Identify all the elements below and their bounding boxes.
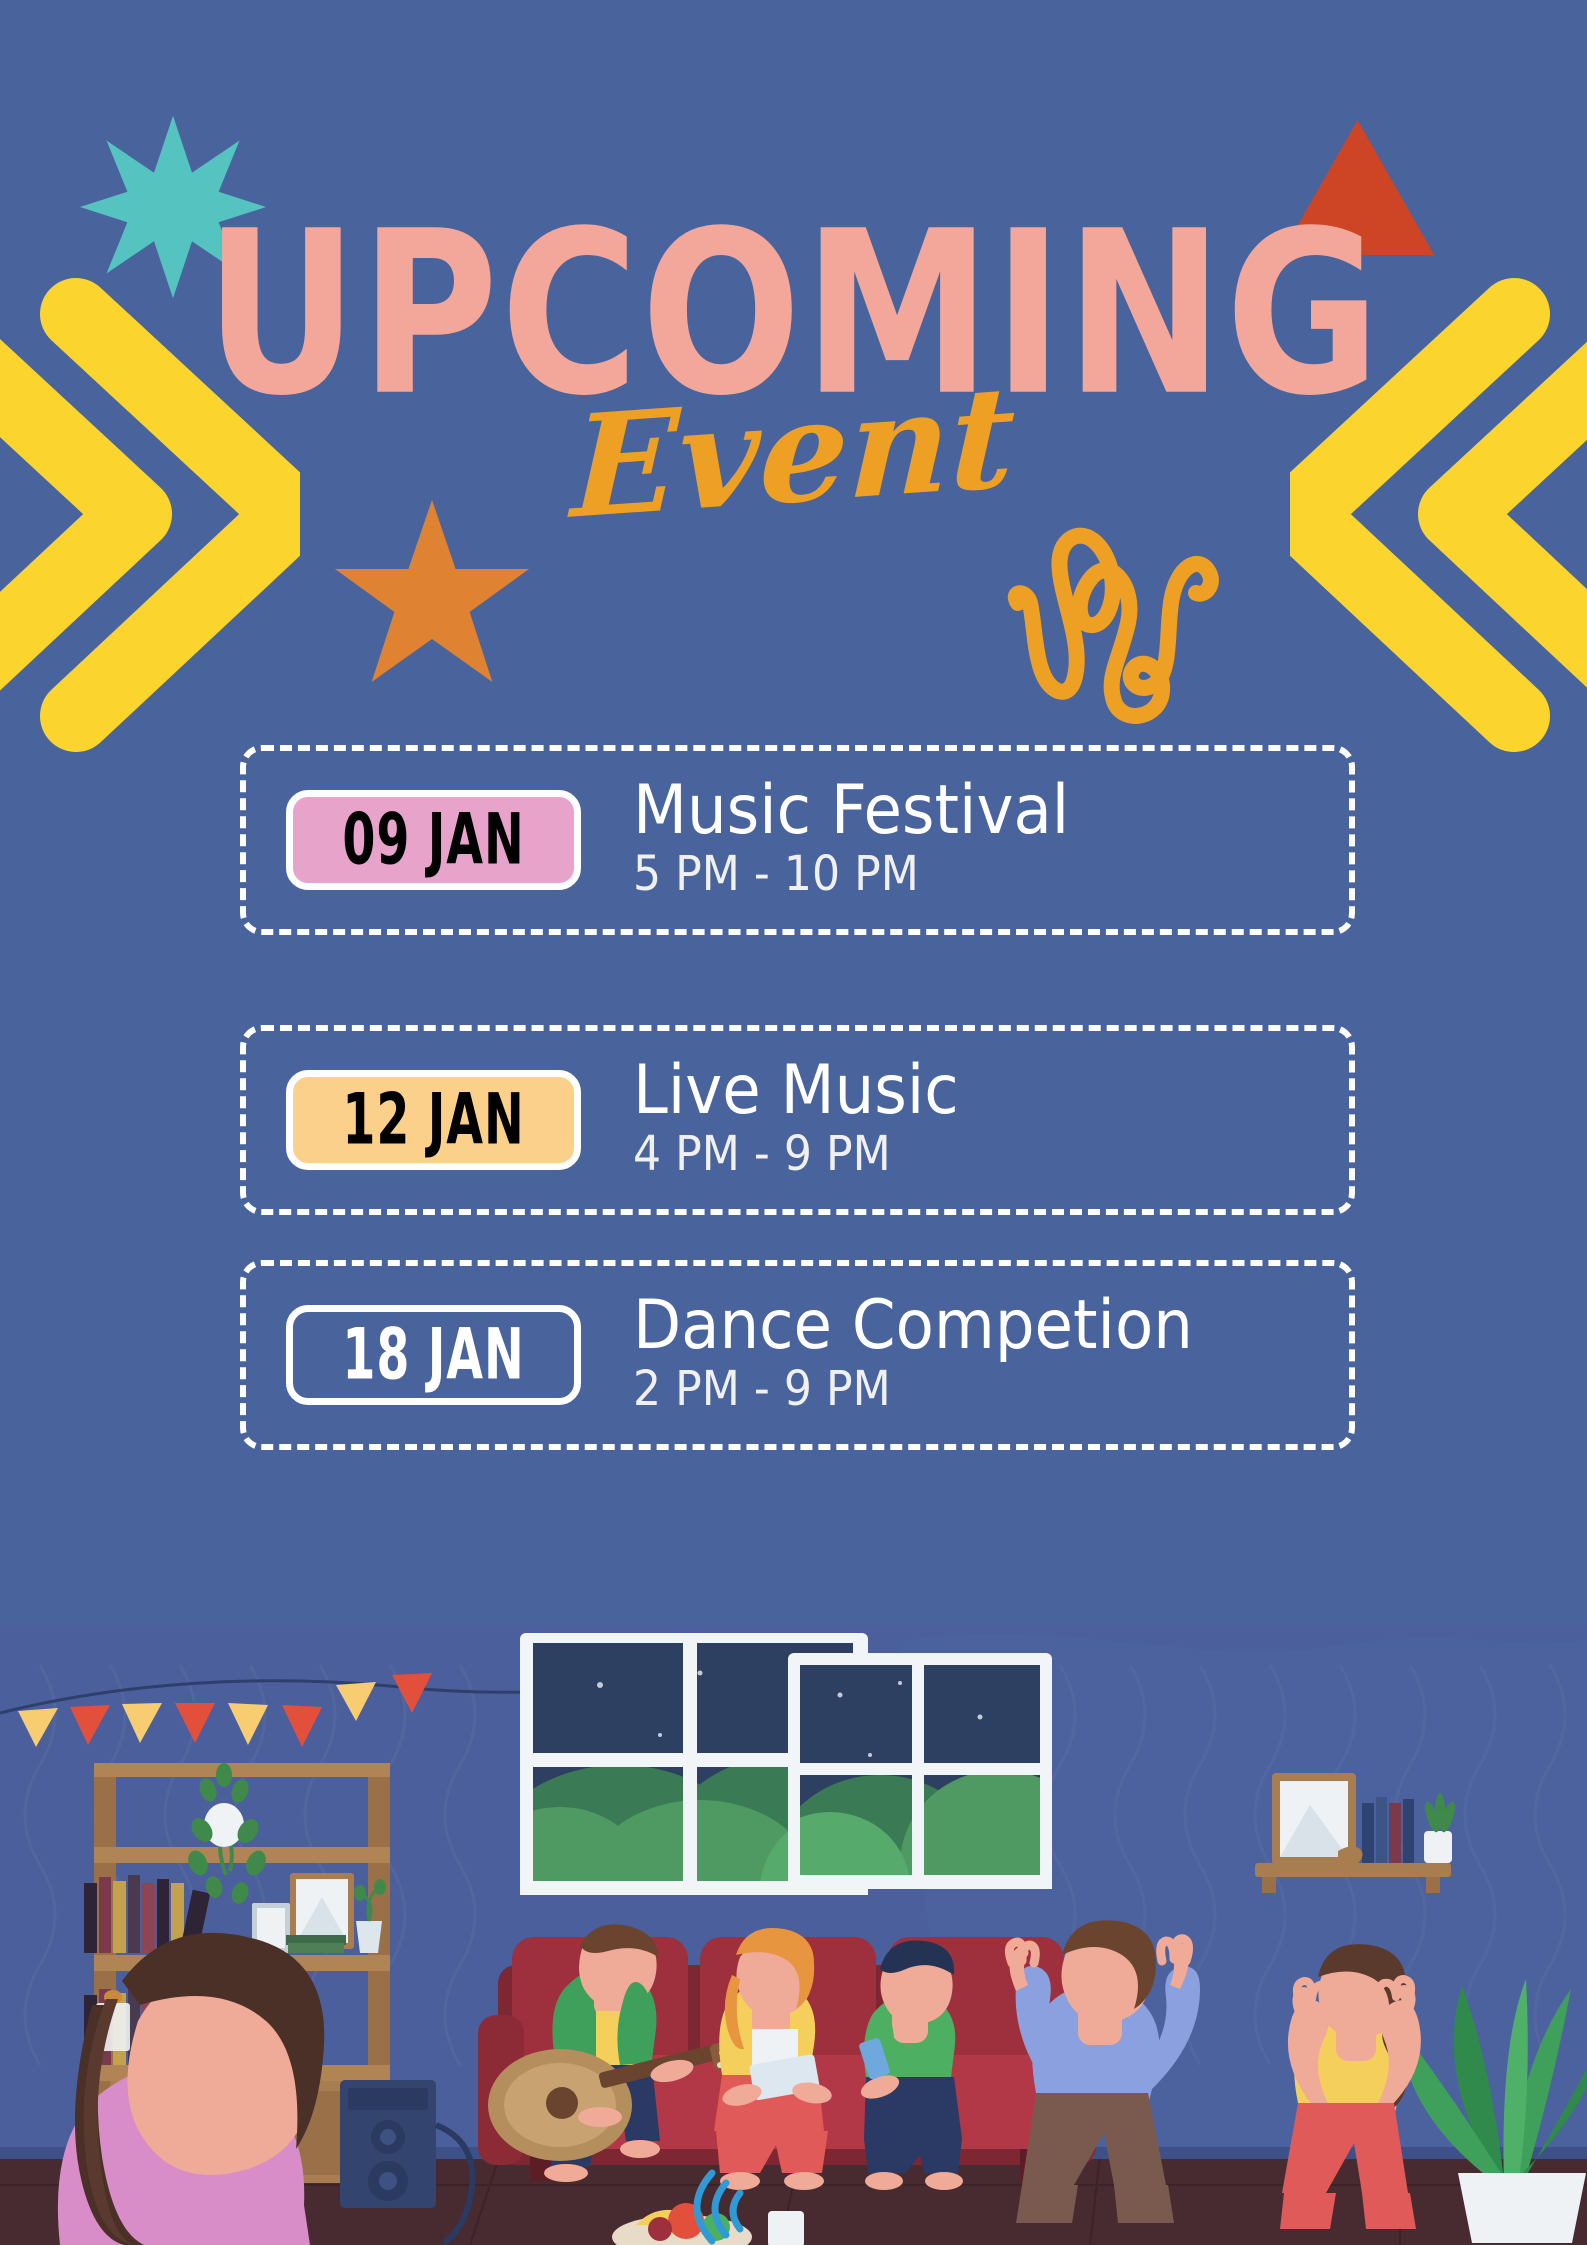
event-time: 4 PM - 9 PM [633,1125,959,1183]
event-name: Dance Competion [633,1292,1193,1360]
event-details: Live Music 4 PM - 9 PM [633,1057,987,1183]
event-list: 09 JAN Music Festival 5 PM - 10 PM 12 JA… [240,745,1355,1450]
event-date-badge: 12 JAN [286,1070,581,1170]
event-date-label: 09 JAN [342,805,524,875]
event-date-label: 18 JAN [342,1320,524,1390]
event-time: 5 PM - 10 PM [633,845,1069,903]
poster-header: UPCOMING Event [0,0,1587,760]
event-details: Music Festival 5 PM - 10 PM [633,777,1107,903]
list-item[interactable]: 18 JAN Dance Competion 2 PM - 9 PM [240,1260,1355,1450]
poster-canvas: UPCOMING Event 09 JAN Music Festival 5 P… [0,0,1587,2245]
event-name: Live Music [633,1057,959,1125]
event-date-label: 12 JAN [342,1085,524,1155]
event-name: Music Festival [633,777,1069,845]
list-item[interactable]: 12 JAN Live Music 4 PM - 9 PM [240,1025,1355,1215]
event-date-badge: 09 JAN [286,790,581,890]
event-time: 2 PM - 9 PM [633,1360,1193,1418]
event-date-badge: 18 JAN [286,1305,581,1405]
house-party-illustration [0,1625,1587,2245]
event-details: Dance Competion 2 PM - 9 PM [633,1292,1242,1418]
list-item[interactable]: 09 JAN Music Festival 5 PM - 10 PM [240,745,1355,935]
